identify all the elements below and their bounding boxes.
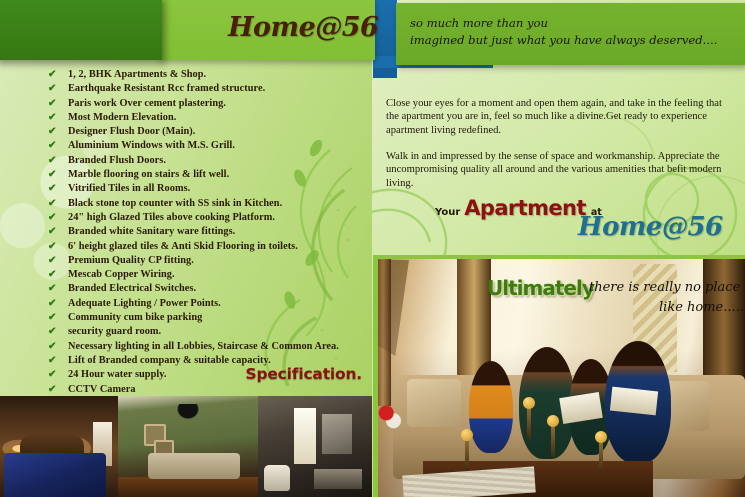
specification-panel: Specification. Home@56 ✔1, 2, BHK Apartm… [0, 0, 372, 396]
spec-list-item-label: 6' height glazed tiles & Anti Skid Floor… [68, 240, 298, 254]
spec-list-item-label: 1, 2, BHK Apartments & Shop. [68, 68, 206, 82]
description-paragraph-1: Close your eyes for a moment and open th… [386, 97, 730, 137]
candle-stand-shape [595, 431, 607, 473]
specification-tab [0, 0, 162, 60]
check-icon: ✔ [48, 225, 68, 239]
spec-list-item-label: Community cum bike parking [68, 311, 202, 325]
spec-list-item: ✔Mescab Copper Wiring. [48, 268, 358, 282]
candle-stand-shape [523, 397, 535, 439]
toilet-shape [264, 465, 290, 491]
photo-living-room-interior [118, 396, 258, 497]
check-icon: ✔ [48, 82, 68, 96]
spec-list-item: ✔1, 2, BHK Apartments & Shop. [48, 68, 358, 82]
tagline-line-1: so much more than you [410, 15, 740, 32]
spec-list-item: ✔Branded white Sanitary ware fittings. [48, 225, 358, 239]
spec-list-item-label: Branded Flush Doors. [68, 154, 166, 168]
check-icon: ✔ [48, 97, 68, 111]
check-icon: ✔ [48, 297, 68, 311]
spec-list-item-label: Paris work Over cement plastering. [68, 97, 226, 111]
spec-list-item: ✔CCTV Camera [48, 383, 358, 397]
spec-list-item-label: Earthquake Resistant Rcc framed structur… [68, 82, 265, 96]
spec-list-item-label: Branded white Sanitary ware fittings. [68, 225, 235, 239]
check-icon: ✔ [48, 154, 68, 168]
tagline-text: so much more than you imagined but just … [410, 15, 740, 49]
tagline-box: so much more than you imagined but just … [396, 3, 745, 65]
photo-frame-left [373, 258, 378, 497]
cushion-shape [407, 379, 461, 427]
spec-list-item-label: Designer Flush Door (Main). [68, 125, 195, 139]
spec-list-item-label: Adequate Lighting / Power Points. [68, 297, 221, 311]
spec-list-item-label: Aluminium Windows with M.S. Grill. [68, 139, 235, 153]
magazine-shape [610, 387, 658, 416]
check-icon: ✔ [48, 197, 68, 211]
spec-list-item: ✔Necessary lighting in all Lobbies, Stai… [48, 340, 358, 354]
check-icon: ✔ [48, 182, 68, 196]
brochure-page: Specification. Home@56 ✔1, 2, BHK Apartm… [0, 0, 745, 497]
check-icon: ✔ [48, 325, 68, 339]
spec-list-item: ✔security guard room. [48, 325, 358, 339]
check-icon: ✔ [48, 68, 68, 82]
tagline-line-2: imagined but just what you have always d… [410, 32, 740, 49]
spec-list-item-label: Most Modern Elevation. [68, 111, 176, 125]
candle-stand-shape [547, 415, 559, 457]
spec-list-item-label: Necessary lighting in all Lobbies, Stair… [68, 340, 339, 354]
person-boy [469, 361, 513, 453]
photo-frame-top [373, 255, 745, 259]
spec-list-item: ✔Community cum bike parking [48, 311, 358, 325]
check-icon: ✔ [48, 282, 68, 296]
spec-list-item: ✔Most Modern Elevation. [48, 111, 358, 125]
check-icon: ✔ [48, 340, 68, 354]
photo-bedroom-interior [0, 396, 118, 497]
check-icon: ✔ [48, 125, 68, 139]
candle-stand-shape [461, 429, 473, 471]
spec-list-item: ✔Adequate Lighting / Power Points. [48, 297, 358, 311]
check-icon: ✔ [48, 311, 68, 325]
check-icon: ✔ [48, 368, 68, 382]
photo-bathroom-interior [258, 396, 372, 497]
overlay-ultimately-word: Ultimately [487, 276, 594, 300]
spec-list-item: ✔Black stone top counter with SS sink in… [48, 197, 358, 211]
bed-shape [4, 453, 106, 497]
sofa-shape [148, 453, 240, 479]
flower-vase-shape [375, 401, 403, 435]
spec-list-item: ✔Lift of Branded company & suitable capa… [48, 354, 358, 368]
spec-list-item-label: 24" high Glazed Tiles above cooking Plat… [68, 211, 275, 225]
chandelier-shape [175, 404, 201, 421]
interior-photo-strip [0, 396, 372, 497]
check-icon: ✔ [48, 111, 68, 125]
spec-list-item-label: Lift of Branded company & suitable capac… [68, 354, 271, 368]
spec-list-item-label: Vitrified Tiles in all Rooms. [68, 182, 190, 196]
check-icon: ✔ [48, 139, 68, 153]
spec-list-item-label: security guard room. [68, 325, 161, 339]
spec-list-item: ✔Premium Quality CP fitting. [48, 254, 358, 268]
light-panel-shape [294, 408, 316, 464]
family-living-room-photo: Ultimately there is really no place like… [373, 258, 745, 497]
spec-list-item: ✔Paris work Over cement plastering. [48, 97, 358, 111]
specification-list: ✔1, 2, BHK Apartments & Shop.✔Earthquake… [48, 68, 358, 440]
check-icon: ✔ [48, 268, 68, 282]
check-icon: ✔ [48, 240, 68, 254]
brand-logo: Home@56 [228, 12, 378, 43]
spec-list-item: ✔24" high Glazed Tiles above cooking Pla… [48, 211, 358, 225]
floor-shape [118, 477, 258, 497]
check-icon: ✔ [48, 383, 68, 397]
spec-list-item-label: 24 Hour water supply. [68, 368, 167, 382]
overlay-tagline-line-1: there is really no place [589, 280, 740, 295]
spec-list-item: ✔Branded Flush Doors. [48, 154, 358, 168]
overlay-tagline-line-2: like home............ [659, 300, 745, 315]
check-icon: ✔ [48, 354, 68, 368]
apartment-prefix: Your [435, 207, 460, 218]
spec-list-item: ✔Designer Flush Door (Main). [48, 125, 358, 139]
spec-list-item-label: Black stone top counter with SS sink in … [68, 197, 282, 211]
spec-list-item: ✔6' height glazed tiles & Anti Skid Floo… [48, 240, 358, 254]
mirror-shape [322, 414, 352, 454]
spec-list-item: ✔Marble flooring on stairs & lift well. [48, 168, 358, 182]
description-paragraph-2: Walk in and impressed by the sense of sp… [386, 150, 730, 190]
spec-list-item: ✔24 Hour water supply. [48, 368, 358, 382]
spec-list-item-label: Branded Electrical Switches. [68, 282, 196, 296]
brand-logo-secondary: Home@56 [578, 212, 723, 242]
check-icon: ✔ [48, 211, 68, 225]
spec-list-item: ✔Aluminium Windows with M.S. Grill. [48, 139, 358, 153]
check-icon: ✔ [48, 254, 68, 268]
apartment-word: Apartment [464, 196, 586, 220]
spec-list-item: ✔Branded Electrical Switches. [48, 282, 358, 296]
vanity-shape [314, 469, 362, 489]
check-icon: ✔ [48, 168, 68, 182]
spec-list-item: ✔Earthquake Resistant Rcc framed structu… [48, 82, 358, 96]
spec-list-item-label: Mescab Copper Wiring. [68, 268, 175, 282]
spec-list-item-label: CCTV Camera [68, 383, 136, 397]
apartment-headline: Your Apartment at [435, 196, 602, 220]
spec-list-item-label: Premium Quality CP fitting. [68, 254, 194, 268]
spec-list-item-label: Marble flooring on stairs & lift well. [68, 168, 229, 182]
spec-list-item: ✔Vitrified Tiles in all Rooms. [48, 182, 358, 196]
